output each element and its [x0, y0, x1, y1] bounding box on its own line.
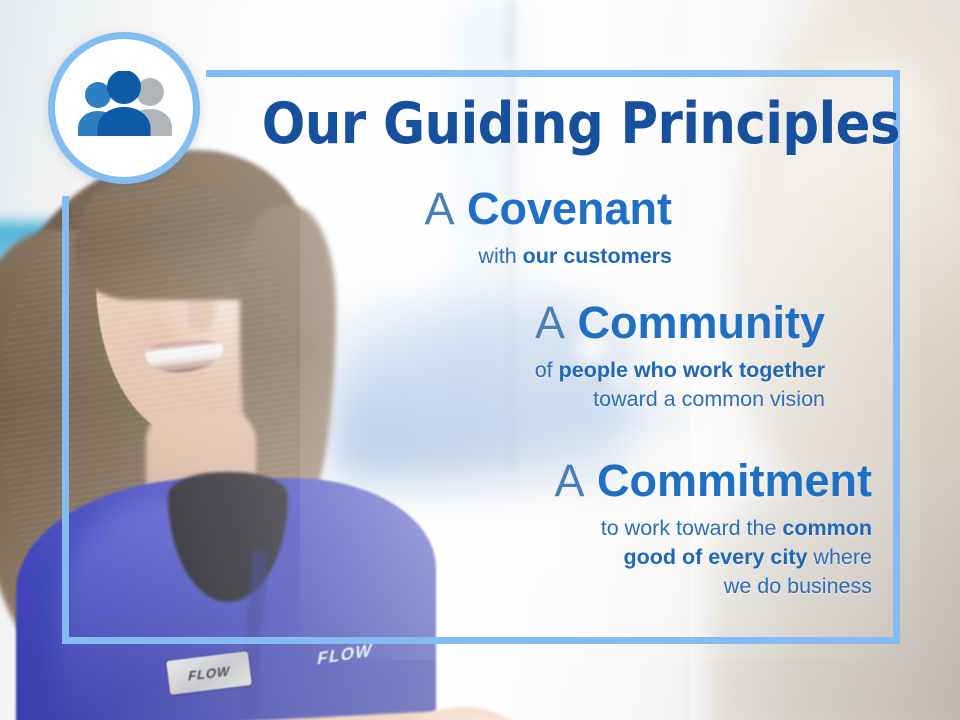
principle-article: A [554, 455, 584, 506]
principle-word: Community [578, 297, 826, 348]
principle-subtext: of people who work togethertoward a comm… [0, 356, 825, 414]
subtext-emphasis: our customers [523, 244, 672, 268]
subtext-run: where [807, 545, 872, 569]
subtext-run: with [478, 244, 522, 268]
principle-headline: A Commitment [0, 458, 872, 505]
principle-subtext: to work toward the commongood of every c… [0, 514, 872, 602]
subtext-run: to work toward the [601, 516, 783, 540]
page-title: Our Guiding Principles [0, 96, 900, 153]
principle-block-community: A Community of people who work togethert… [0, 300, 825, 414]
promotional-graphic: FLOW FLOW [0, 0, 960, 720]
principle-article: A [424, 183, 454, 234]
principle-article: A [535, 297, 565, 348]
subtext-run: of [535, 358, 559, 382]
subtext-emphasis: common [782, 516, 872, 540]
subtext-emphasis: people who work together [559, 358, 825, 382]
principle-block-commitment: A Commitment to work toward the commongo… [0, 458, 872, 602]
subtext-run: toward a common vision [593, 387, 825, 411]
principle-word: Covenant [467, 183, 672, 234]
principle-subtext: with our customers [0, 242, 672, 271]
subtext-emphasis: good of every city [623, 545, 807, 569]
principle-headline: A Covenant [0, 186, 672, 233]
text-layer: Our Guiding Principles A Covenant with o… [0, 0, 960, 720]
principle-word: Commitment [597, 455, 872, 506]
subtext-run: we do business [724, 574, 872, 598]
principle-block-covenant: A Covenant with our customers [0, 186, 672, 271]
principle-headline: A Community [0, 300, 825, 347]
